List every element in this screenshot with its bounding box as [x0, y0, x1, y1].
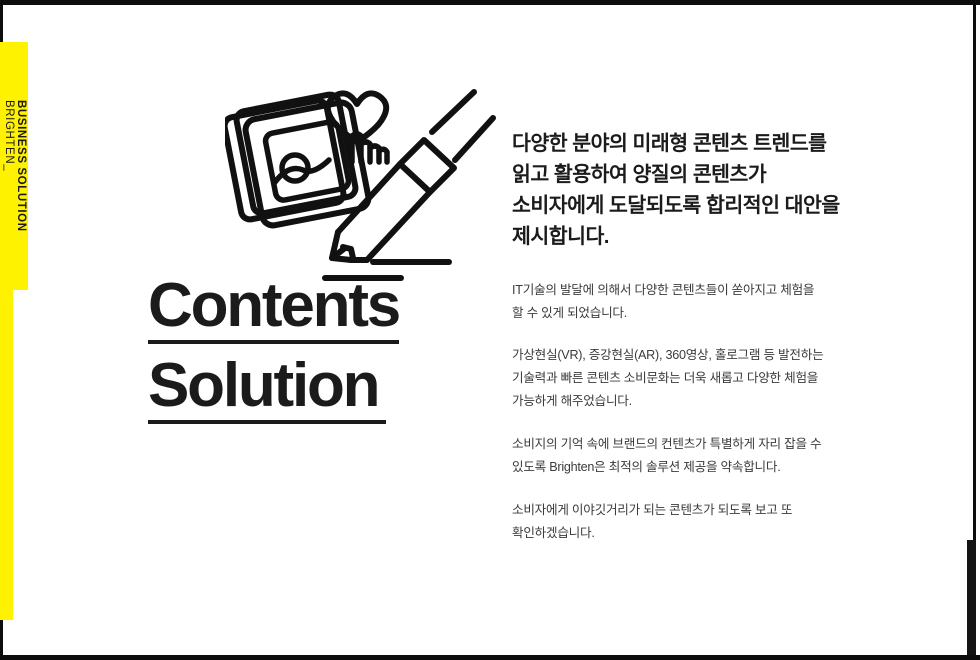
page-title-line-2: Solution — [148, 356, 386, 424]
headline-line-3: 소비자에게 도달되도록 합리적인 대안을 — [512, 190, 912, 221]
brand-rail-narrow — [0, 290, 13, 620]
frame-top-bar — [0, 0, 980, 5]
body-paragraph-2-line-3: 가능하게 해주었습니다. — [512, 390, 912, 413]
body-paragraph-4: 소비자에게 이야깃거리가 되는 콘텐츠가 되도록 보고 또 확인하겠습니다. — [512, 499, 912, 545]
headline-line-4: 제시합니다. — [512, 221, 912, 252]
body-paragraph-1-line-2: 할 수 있게 되었습니다. — [512, 302, 912, 325]
contents-illustration — [225, 80, 505, 285]
body-paragraph-4-line-2: 확인하겠습니다. — [512, 522, 912, 545]
slide-page: BRIGHTEN_BUSINESS SOLUTION — [0, 0, 980, 660]
headline: 다양한 분야의 미래형 콘텐츠 트렌드를 읽고 활용하여 양질의 콘텐츠가 소비… — [512, 128, 912, 253]
page-title: Contents Solution — [148, 276, 498, 436]
brand-rail-wide — [0, 42, 28, 290]
body-paragraph-2: 가상현실(VR), 증강현실(AR), 360영상, 홀로그램 등 발전하는 기… — [512, 344, 912, 413]
right-column: 다양한 분야의 미래형 콘텐츠 트렌드를 읽고 활용하여 양질의 콘텐츠가 소비… — [512, 128, 912, 545]
body-paragraph-3-line-2: 있도록 Brighten은 최적의 솔루션 제공을 약속합니다. — [512, 456, 912, 479]
body-paragraph-2-line-1: 가상현실(VR), 증강현실(AR), 360영상, 홀로그램 등 발전하는 — [512, 344, 912, 367]
page-title-line-1: Contents — [148, 276, 399, 344]
headline-line-1: 다양한 분야의 미래형 콘텐츠 트렌드를 — [512, 128, 912, 159]
body-paragraph-1: IT기술의 발달에 의해서 다양한 콘텐츠들이 쏟아지고 체험을 할 수 있게 … — [512, 279, 912, 325]
frame-right-block — [967, 540, 976, 655]
photo-stack-icon — [225, 93, 370, 227]
body-paragraph-3-line-1: 소비지의 기억 속에 브랜드의 컨텐츠가 특별하게 자리 잡을 수 — [512, 433, 912, 456]
frame-right-rule — [973, 5, 976, 540]
body-paragraph-4-line-1: 소비자에게 이야깃거리가 되는 콘텐츠가 되도록 보고 또 — [512, 499, 912, 522]
headline-line-2: 읽고 활용하여 양질의 콘텐츠가 — [512, 159, 912, 190]
body-paragraph-2-line-2: 기술력과 빠른 콘텐츠 소비문화는 더욱 새롭고 다양한 체험을 — [512, 367, 912, 390]
frame-bottom-bar — [0, 655, 980, 660]
body-paragraph-1-line-1: IT기술의 발달에 의해서 다양한 콘텐츠들이 쏟아지고 체험을 — [512, 279, 912, 302]
body-paragraph-3: 소비지의 기억 속에 브랜드의 컨텐츠가 특별하게 자리 잡을 수 있도록 Br… — [512, 433, 912, 479]
left-column: Contents Solution — [140, 80, 500, 430]
